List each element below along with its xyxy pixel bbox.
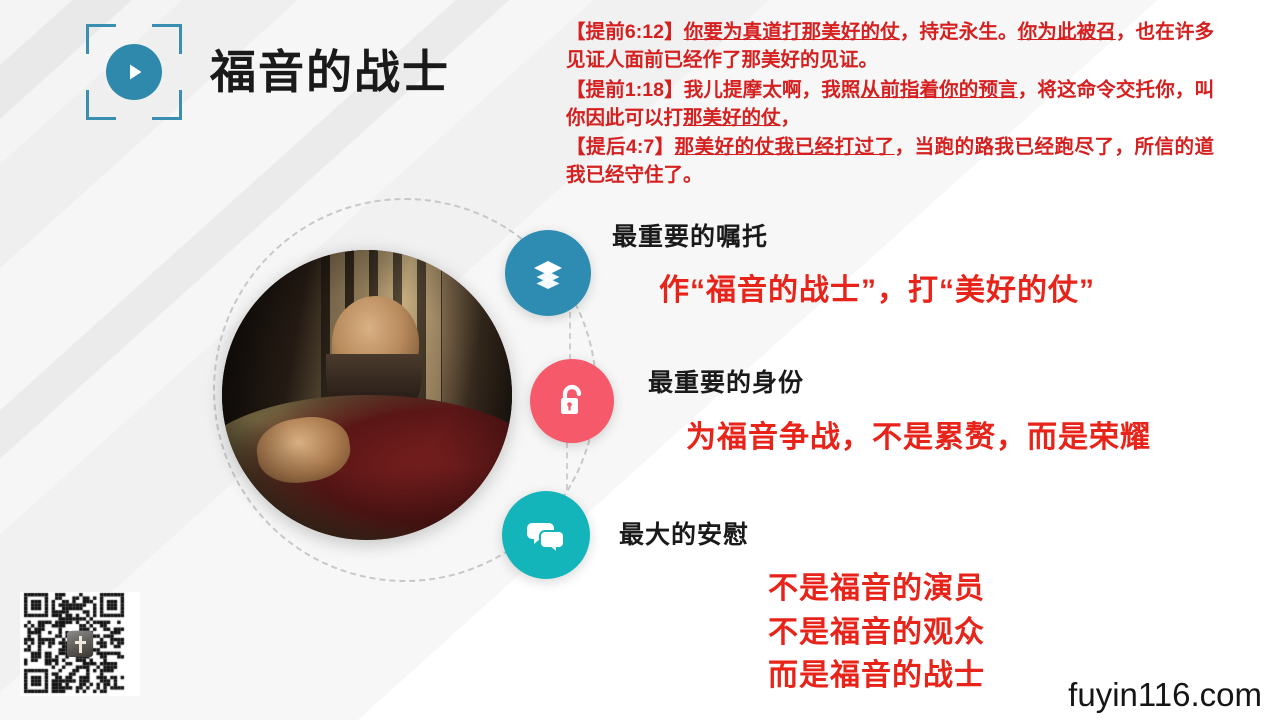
connector-line: [569, 312, 571, 360]
highlight-line: 不是福音的演员: [768, 567, 985, 611]
verse-segment: 从前指着你的预言: [861, 79, 1018, 101]
highlight-line: 不是福音的观众: [768, 611, 985, 655]
paul-portrait-image: [222, 250, 512, 540]
slide-canvas: 福音的战士 【提前6:12】你要为真道打那美好的仗，持定永生。你为此被召，也在许…: [0, 0, 1280, 720]
cross-icon: [67, 631, 93, 657]
scripture-verse-3: 【提后4:7】那美好的仗我已经打过了，当跑的路我已经跑尽了，所信的道我已经守住了…: [566, 133, 1214, 190]
verse-ref: 【提前1:18】: [566, 79, 684, 101]
block-heading-1: 最重要的嘱托: [612, 217, 768, 253]
verse-segment: 那美好的仗: [683, 107, 781, 129]
verse-segment: 那美好的仗我已经打过了: [675, 136, 895, 158]
verse-ref: 【提后4:7】: [566, 136, 675, 158]
scripture-verse-1: 【提前6:12】你要为真道打那美好的仗，持定永生。你为此被召，也在许多见证人面前…: [566, 18, 1214, 75]
block-highlight-2: 为福音争战，不是累赘，而是荣耀: [686, 412, 1151, 456]
title-logo-frame: [86, 24, 182, 120]
chat-bubbles-icon[interactable]: [502, 491, 590, 579]
unlock-icon[interactable]: [530, 359, 614, 443]
verse-segment: 我儿提摩太啊，我照: [684, 79, 861, 101]
connector-line: [566, 442, 568, 490]
page-title: 福音的战士: [210, 49, 450, 95]
scripture-verse-2: 【提前1:18】我儿提摩太啊，我照从前指着你的预言，将这命令交托你，叫你因此可以…: [566, 76, 1214, 133]
block-highlight-1: 作“福音的战士”，打“美好的仗”: [659, 265, 1095, 309]
verse-segment: 你要为真道打那美好的仗: [684, 21, 900, 43]
play-icon: [106, 44, 162, 100]
site-watermark: fuyin116.com: [1068, 676, 1262, 714]
verse-segment: ，持定永生。: [900, 21, 1018, 43]
block-highlight-3: 不是福音的演员 不是福音的观众 而是福音的战士: [768, 567, 985, 698]
block-heading-2: 最重要的身份: [648, 363, 804, 399]
highlight-line: 而是福音的战士: [768, 654, 985, 698]
scripture-block: 【提前6:12】你要为真道打那美好的仗，持定永生。你为此被召，也在许多见证人面前…: [566, 18, 1214, 191]
verse-segment: ，: [781, 107, 801, 129]
slide-title-group: 福音的战士: [86, 24, 450, 120]
verse-ref: 【提前6:12】: [566, 21, 684, 43]
layers-icon[interactable]: [505, 230, 591, 316]
block-heading-3: 最大的安慰: [619, 515, 749, 551]
qr-code[interactable]: [20, 592, 140, 696]
verse-segment: 你为此被召: [1018, 21, 1116, 43]
